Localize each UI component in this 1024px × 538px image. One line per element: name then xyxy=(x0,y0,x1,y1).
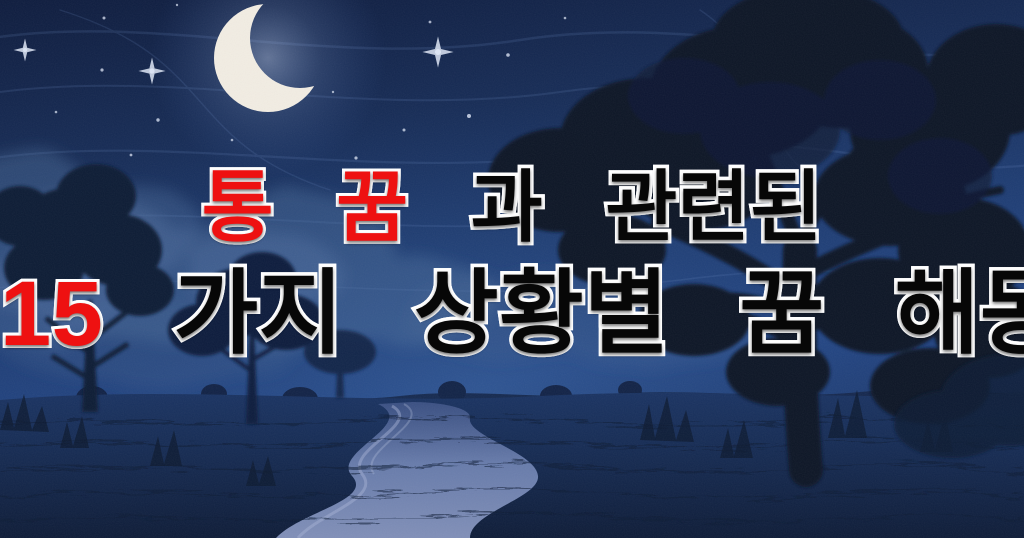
thumbnail-canvas: 통 꿈 과 관련된 15 가지 상황별 꿈 해몽 xyxy=(0,0,1024,538)
film-grain xyxy=(0,0,1024,538)
night-scene-illustration xyxy=(0,0,1024,538)
